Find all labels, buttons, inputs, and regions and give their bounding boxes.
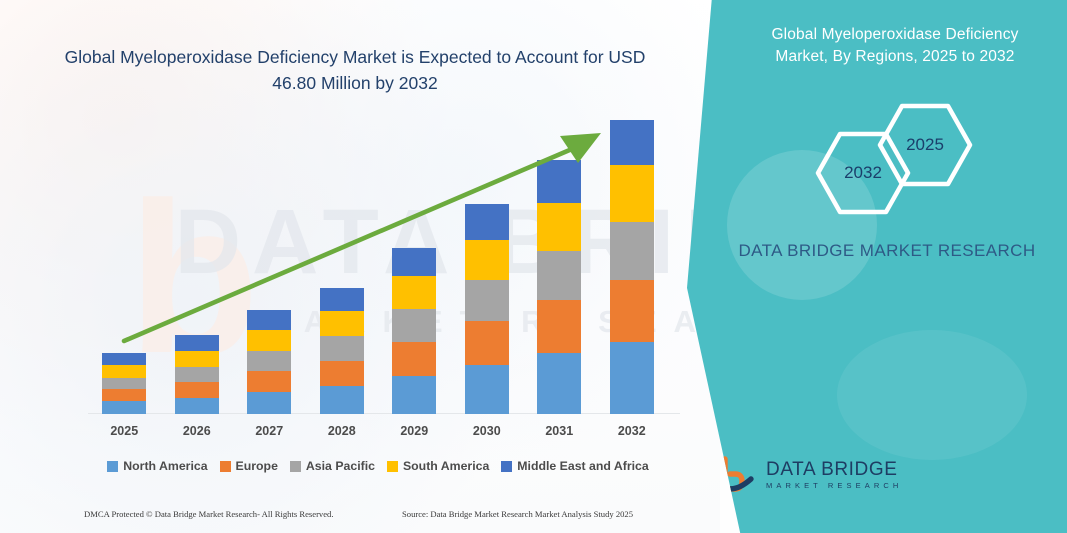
x-label-2031: 2031 — [529, 424, 589, 438]
panel-brand: DATA BRIDGE MARKET RESEARCH — [727, 238, 1047, 264]
legend-item[interactable]: South America — [387, 459, 489, 473]
page-title: Global Myeloperoxidase Deficiency Market… — [60, 44, 650, 97]
hexagon-label-2025: 2025 — [877, 103, 973, 187]
bar-segment — [537, 160, 581, 203]
bar-segment — [537, 251, 581, 300]
bar-2027 — [247, 310, 291, 414]
bar-segment — [537, 203, 581, 251]
legend-swatch-icon — [501, 461, 512, 472]
bar-segment — [175, 335, 219, 350]
bar-2029 — [392, 248, 436, 414]
legend-item[interactable]: Asia Pacific — [290, 459, 375, 473]
legend-item[interactable]: North America — [107, 459, 207, 473]
x-label-2030: 2030 — [457, 424, 517, 438]
brand-logo: DATA BRIDGE MARKET RESEARCH — [717, 455, 902, 495]
bar-segment — [102, 353, 146, 365]
bar-segment — [610, 280, 654, 342]
legend-item[interactable]: Europe — [220, 459, 278, 473]
bar-segment — [247, 351, 291, 371]
bar-2031 — [537, 160, 581, 414]
bar-segment — [392, 376, 436, 414]
legend-label: Middle East and Africa — [517, 459, 648, 473]
bar-segment — [610, 342, 654, 414]
bar-segment — [175, 367, 219, 382]
bar-segment — [610, 222, 654, 280]
bar-segment — [610, 120, 654, 165]
legend-item[interactable]: Middle East and Africa — [501, 459, 648, 473]
logo-text: DATA BRIDGE MARKET RESEARCH — [766, 460, 902, 490]
logo-mark-icon — [717, 455, 757, 495]
bar-2028 — [320, 288, 364, 414]
x-label-2026: 2026 — [167, 424, 227, 438]
bar-segment — [175, 351, 219, 367]
legend-swatch-icon — [387, 461, 398, 472]
bar-segment — [175, 382, 219, 398]
x-label-2025: 2025 — [94, 424, 154, 438]
right-panel: Global Myeloperoxidase Deficiency Market… — [687, 0, 1067, 533]
bar-segment — [247, 371, 291, 392]
bar-segment — [392, 342, 436, 377]
legend-label: Europe — [236, 459, 278, 473]
bar-segment — [102, 389, 146, 401]
hexagon-badges: 2032 2025 — [687, 103, 1067, 208]
x-label-2027: 2027 — [239, 424, 299, 438]
logo-line2: MARKET RESEARCH — [766, 482, 902, 490]
legend-label: South America — [403, 459, 489, 473]
bar-2026 — [175, 335, 219, 414]
logo-line1: DATA BRIDGE — [766, 460, 902, 479]
bar-segment — [102, 378, 146, 390]
bar-segment — [465, 365, 509, 414]
bar-segment — [465, 240, 509, 280]
bar-segment — [102, 365, 146, 378]
bar-segment — [320, 386, 364, 414]
bar-segment — [320, 288, 364, 311]
footer-copyright: DMCA Protected © Data Bridge Market Rese… — [84, 509, 334, 519]
footer: DMCA Protected © Data Bridge Market Rese… — [0, 509, 700, 527]
legend-swatch-icon — [220, 461, 231, 472]
chart-legend: North AmericaEuropeAsia PacificSouth Ame… — [88, 459, 668, 473]
x-label-2032: 2032 — [602, 424, 662, 438]
bar-segment — [247, 330, 291, 351]
bar-segment — [102, 401, 146, 414]
decor-blob-2 — [837, 330, 1027, 460]
x-label-2029: 2029 — [384, 424, 444, 438]
bar-plot — [88, 120, 668, 414]
bar-2032 — [610, 120, 654, 414]
bar-segment — [610, 165, 654, 222]
infographic-canvas: b DATA BRIDGE MARKET RESEARCH Global Mye… — [0, 0, 1067, 533]
bar-segment — [537, 353, 581, 414]
panel-title: Global Myeloperoxidase Deficiency Market… — [745, 24, 1045, 68]
bar-segment — [392, 276, 436, 309]
bar-segment — [247, 310, 291, 329]
legend-label: Asia Pacific — [306, 459, 375, 473]
x-label-2028: 2028 — [312, 424, 372, 438]
bar-segment — [392, 309, 436, 342]
legend-swatch-icon — [107, 461, 118, 472]
bar-2025 — [102, 353, 146, 414]
bar-segment — [537, 300, 581, 353]
x-axis-labels: 20252026202720282029203020312032 — [88, 424, 680, 444]
hexagon-badge-2025: 2025 — [877, 103, 973, 187]
legend-label: North America — [123, 459, 207, 473]
bar-segment — [320, 336, 364, 361]
bar-segment — [465, 204, 509, 240]
bar-segment — [247, 392, 291, 414]
footer-source: Source: Data Bridge Market Research Mark… — [402, 509, 633, 519]
legend-swatch-icon — [290, 461, 301, 472]
bar-2030 — [465, 204, 509, 414]
bar-segment — [392, 248, 436, 277]
bar-segment — [465, 321, 509, 365]
bar-segment — [465, 280, 509, 321]
chart-area: Global Myeloperoxidase Deficiency Market… — [0, 0, 700, 533]
bar-segment — [175, 398, 219, 414]
bar-segment — [320, 361, 364, 387]
bar-segment — [320, 311, 364, 336]
